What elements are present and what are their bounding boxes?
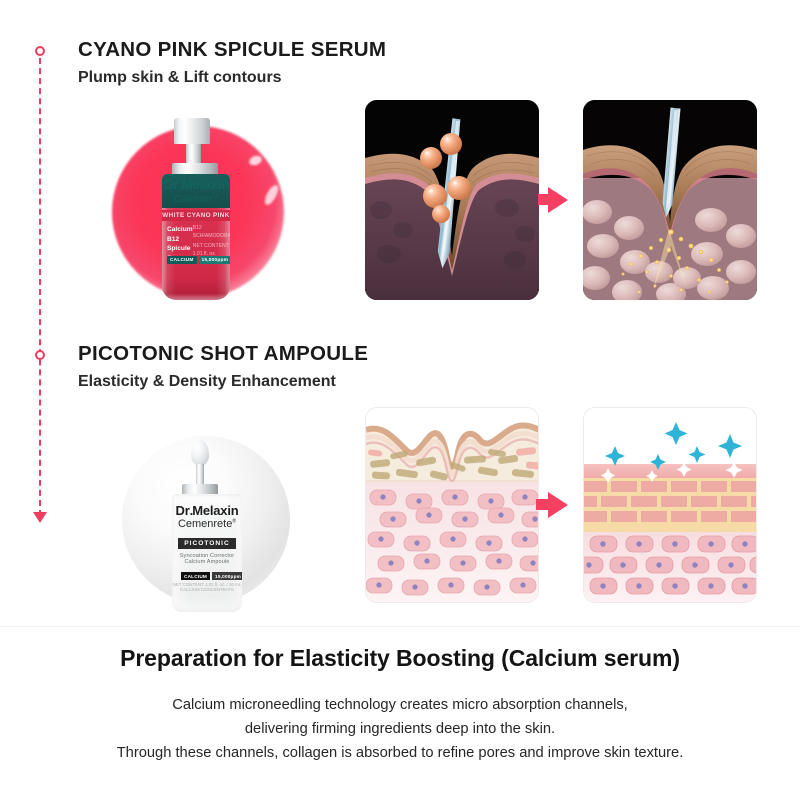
label-chip-ppm-2: 15,000ppm xyxy=(212,572,242,580)
panel-pore-needle-after xyxy=(583,100,757,300)
product-line-1: CalciumCX xyxy=(164,194,228,205)
glow-highlight-1 xyxy=(248,154,263,167)
panel-skin-layers-before xyxy=(365,407,539,603)
section-1-title: CYANO PINK SPICULE SERUM xyxy=(78,38,386,62)
timeline-dashed-track xyxy=(39,48,41,516)
bottle-body-1: Dr.Melaxin CalciumCX WHITE CYANO PINK SP… xyxy=(162,174,230,300)
label-chip-row-1: CALCIUM 15,000ppm xyxy=(167,256,230,264)
product-line-sup-2: ® xyxy=(232,518,236,524)
panel-pore-needle-before xyxy=(365,100,539,300)
skin-layers-after-illustration xyxy=(584,408,757,603)
section-2-title: PICOTONIC SHOT AMPOULE xyxy=(78,342,368,366)
step-marker-2-icon xyxy=(35,350,45,360)
pore-needle-before-illustration xyxy=(365,100,539,300)
transition-arrow-1-tail-icon xyxy=(538,194,550,205)
product-brand-1: Dr.Melaxin xyxy=(164,178,228,192)
product-line-2: Cemenrete® xyxy=(174,519,240,530)
label-strip-1: WHITE CYANO PINK SPICULE xyxy=(162,210,230,221)
section-2-subtitle: Elasticity & Density Enhancement xyxy=(78,373,368,391)
timeline-arrow-down-icon xyxy=(33,512,47,523)
pump-neck-1 xyxy=(186,144,201,165)
pump-head-1 xyxy=(174,118,210,144)
label-block-2: Dr.Melaxin Cemenrete® xyxy=(174,504,240,530)
label-chip-ppm-1: 15,000ppm xyxy=(199,256,230,264)
pore-needle-after-illustration xyxy=(583,100,757,300)
label-chip-calcium-1: CALCIUM xyxy=(167,256,197,264)
product-image-picotonic-shot-ampoule: Dr.Melaxin Cemenrete® PICOTONIC SHOT Syn… xyxy=(122,436,302,616)
serum-bottle-1: Dr.Melaxin CalciumCX WHITE CYANO PINK SP… xyxy=(156,118,244,308)
label-block-1: Dr.Melaxin CalciumCX xyxy=(164,178,228,204)
glow-highlight-2 xyxy=(262,183,280,207)
footer-line-2: delivering firming ingredients deep into… xyxy=(0,718,800,742)
section-divider xyxy=(0,626,800,627)
product-image-cyano-pink-spicule-serum: Dr.Melaxin CalciumCX WHITE CYANO PINK SP… xyxy=(112,126,292,311)
section-1-subtitle: Plump skin & Lift contours xyxy=(78,69,386,87)
bottle-body-2: Dr.Melaxin Cemenrete® PICOTONIC SHOT Syn… xyxy=(172,494,242,612)
panel-skin-layers-after xyxy=(583,407,757,603)
step-timeline xyxy=(36,42,44,532)
serum-bottle-2: Dr.Melaxin Cemenrete® PICOTONIC SHOT Syn… xyxy=(160,440,252,616)
product-line-sup-1: CX xyxy=(211,193,218,199)
skin-layers-before-illustration xyxy=(366,408,539,603)
footer-line-3: Through these channels, collagen is abso… xyxy=(0,742,800,766)
transition-arrow-1-head-icon xyxy=(548,187,568,213)
transition-arrow-2-tail-icon xyxy=(536,499,550,510)
product-brand-2: Dr.Melaxin xyxy=(174,504,240,517)
footer-body: Calcium microneedling technology creates… xyxy=(0,694,800,766)
label-footnote-2: NET CONTENT 1.01 fl. oz. / 30 mL CALCIUM… xyxy=(172,582,242,592)
transition-arrow-2-head-icon xyxy=(548,492,568,518)
label-chip-calcium-2: CALCIUM xyxy=(181,572,210,580)
label-strip-2: PICOTONIC SHOT xyxy=(178,538,236,549)
footer-block: Preparation for Elasticity Boosting (Cal… xyxy=(0,645,800,766)
section-cyano-pink-spicule-serum: CYANO PINK SPICULE SERUM Plump skin & Li… xyxy=(78,38,386,87)
dropper-bulb-2 xyxy=(191,440,209,466)
step-marker-1-icon xyxy=(35,46,45,56)
footer-heading: Preparation for Elasticity Boosting (Cal… xyxy=(0,645,800,672)
footer-line-1: Calcium microneedling technology creates… xyxy=(0,694,800,718)
dropper-stem-2 xyxy=(196,464,204,486)
section-picotonic-shot-ampoule: PICOTONIC SHOT AMPOULE Elasticity & Dens… xyxy=(78,342,368,391)
infographic-page: CYANO PINK SPICULE SERUM Plump skin & Li… xyxy=(0,0,800,800)
